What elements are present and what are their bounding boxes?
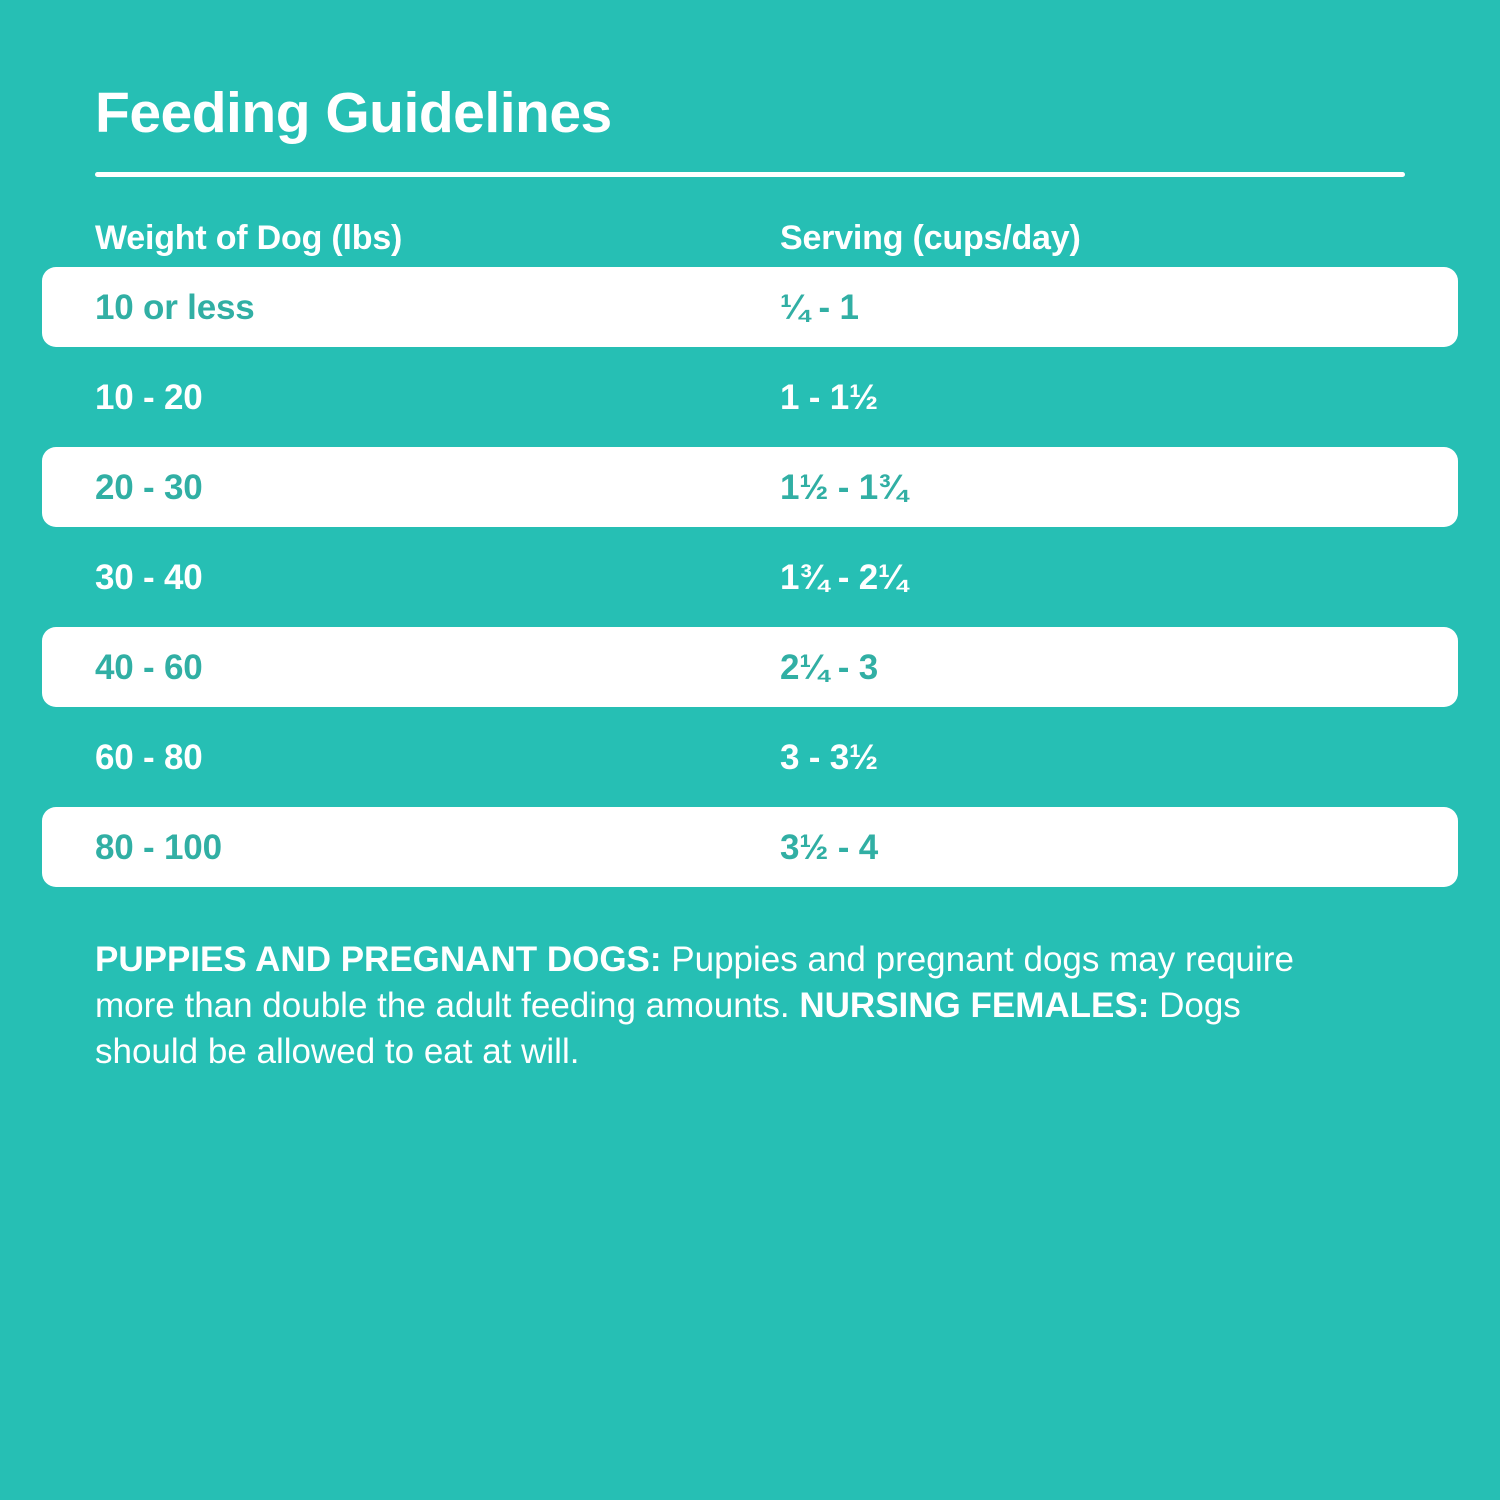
footnote-nursing-label: NURSING FEMALES: (799, 986, 1149, 1025)
footnote: PUPPIES AND PREGNANT DOGS: Puppies and p… (0, 937, 1400, 1076)
table-row: 60 - 80 3 - 3½ (42, 717, 1458, 797)
column-header-serving: Serving (cups/day) (780, 219, 1405, 258)
column-header-weight: Weight of Dog (lbs) (95, 219, 780, 258)
table-row: 10 - 20 1 - 1½ (42, 357, 1458, 437)
cell-serving: 3½ - 4 (780, 830, 1405, 865)
cell-weight: 10 - 20 (95, 380, 780, 415)
page-title: Feeding Guidelines (95, 85, 1405, 142)
cell-serving: 1¾ - 2¼ (780, 560, 1405, 595)
title-divider (95, 172, 1405, 177)
table-header-row: Weight of Dog (lbs) Serving (cups/day) (42, 209, 1458, 267)
cell-serving: 1 - 1½ (780, 380, 1405, 415)
cell-serving: ¼ - 1 (780, 290, 1405, 325)
title-block: Feeding Guidelines (0, 0, 1500, 177)
feeding-table: Weight of Dog (lbs) Serving (cups/day) 1… (0, 209, 1500, 887)
cell-weight: 10 or less (95, 290, 780, 325)
cell-serving: 3 - 3½ (780, 740, 1405, 775)
cell-serving: 2¼ - 3 (780, 650, 1405, 685)
table-row: 20 - 30 1½ - 1¾ (42, 447, 1458, 527)
table-row: 30 - 40 1¾ - 2¼ (42, 537, 1458, 617)
footnote-puppies-label: PUPPIES AND PREGNANT DOGS: (95, 940, 662, 979)
cell-weight: 80 - 100 (95, 830, 780, 865)
table-row: 40 - 60 2¼ - 3 (42, 627, 1458, 707)
feeding-guidelines-panel: Feeding Guidelines Weight of Dog (lbs) S… (0, 0, 1500, 1500)
cell-serving: 1½ - 1¾ (780, 470, 1405, 505)
cell-weight: 30 - 40 (95, 560, 780, 595)
cell-weight: 40 - 60 (95, 650, 780, 685)
cell-weight: 60 - 80 (95, 740, 780, 775)
table-row: 80 - 100 3½ - 4 (42, 807, 1458, 887)
cell-weight: 20 - 30 (95, 470, 780, 505)
table-row: 10 or less ¼ - 1 (42, 267, 1458, 347)
